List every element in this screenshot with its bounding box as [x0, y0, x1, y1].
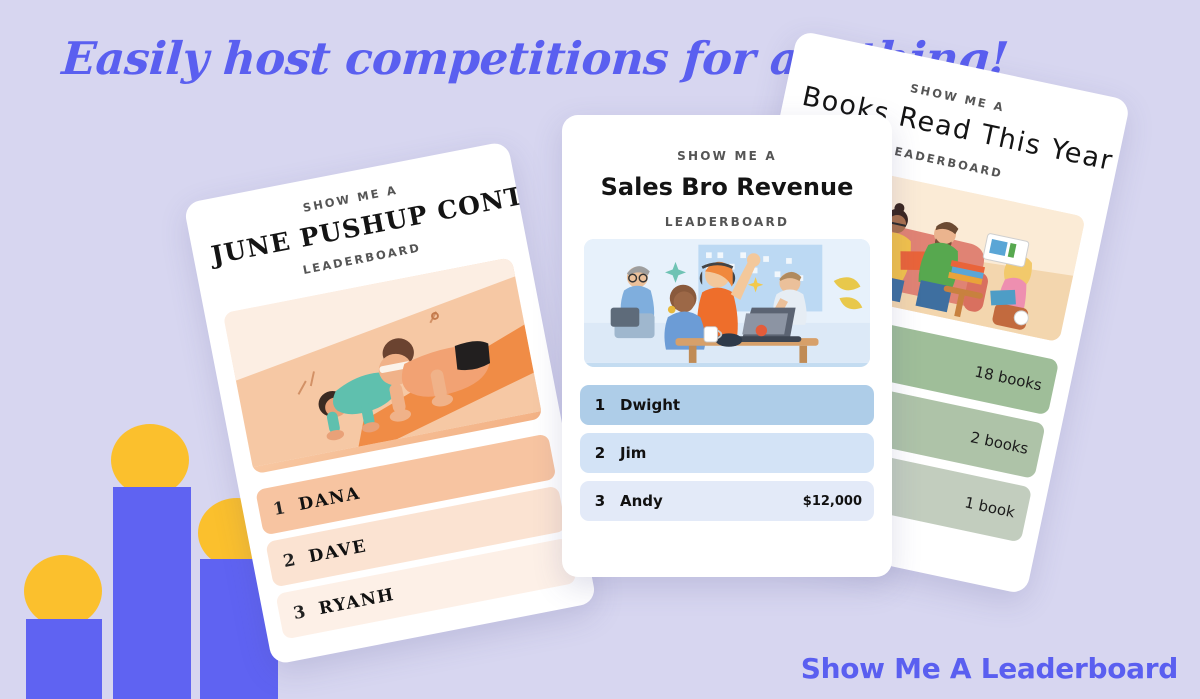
row-score	[550, 508, 562, 510]
card-title: Sales Bro Revenue	[580, 173, 874, 201]
card-header: SHOW ME A Sales Bro Revenue LEADERBOARD	[562, 115, 892, 229]
card-subtitle: LEADERBOARD	[580, 215, 874, 229]
row-rank: 1	[258, 495, 301, 522]
promo-canvas: Easily host competitions for anything! S…	[0, 0, 1200, 699]
row-rank: 3	[278, 600, 321, 627]
podium-medal-1	[111, 424, 189, 496]
podium-bar-1	[113, 487, 191, 699]
card-kicker: SHOW ME A	[580, 149, 874, 163]
row-name: Andy	[620, 492, 803, 510]
row-rank: 2	[580, 444, 620, 462]
row-score: 2 books	[969, 428, 1042, 460]
row-name: Jim	[620, 444, 862, 462]
row-score: $12,000	[803, 494, 874, 509]
row-rank: 2	[268, 547, 311, 574]
card-hero-illustration	[584, 239, 870, 367]
leaderboard-card-sales[interactable]: SHOW ME A Sales Bro Revenue LEADERBOARD	[562, 115, 892, 577]
brand-wordmark: Show Me A Leaderboard	[801, 652, 1178, 685]
row-name: Dwight	[620, 396, 862, 414]
row-score: 1 book	[963, 493, 1028, 524]
sales-team-illustration-icon	[584, 239, 870, 363]
table-row[interactable]: 1 Dwight	[580, 385, 874, 425]
row-rank: 3	[580, 492, 620, 510]
row-score: 18 books	[973, 363, 1055, 397]
row-score	[540, 456, 552, 458]
podium-bar-2	[26, 619, 102, 699]
row-rank: 1	[580, 396, 620, 414]
table-row[interactable]: 3 Andy $12,000	[580, 481, 874, 521]
podium-medal-2	[24, 555, 102, 627]
table-row[interactable]: 2 Jim	[580, 433, 874, 473]
leaderboard-rows: 1 Dwight 2 Jim 3 Andy $12,000	[562, 367, 892, 521]
